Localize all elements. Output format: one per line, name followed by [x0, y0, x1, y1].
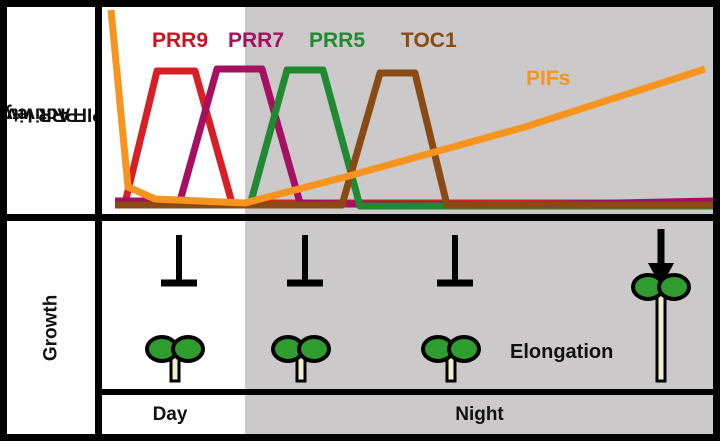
circadian-growth-figure: PRR levels and PIF Activity Growth PRR9P… — [0, 0, 720, 441]
axis-label-growth-text: Growth — [40, 294, 62, 361]
seedling-elongated — [633, 275, 689, 381]
phase-label-night: Night — [245, 395, 714, 434]
divider-horizontal-phasebar — [95, 389, 714, 395]
prr-pif-chart-panel: PRR9PRR7PRR5TOC1PIFs — [95, 7, 714, 214]
seedling-short — [273, 337, 329, 381]
cotyledon-right — [173, 337, 203, 361]
series-label-prr9: PRR9 — [152, 29, 208, 53]
series-label-pifs: PIFs — [526, 67, 570, 91]
cotyledon-right — [299, 337, 329, 361]
cotyledon-right — [659, 275, 689, 299]
series-label-prr7: PRR7 — [228, 29, 284, 53]
seedling-short — [423, 337, 479, 381]
curve-prr7 — [115, 69, 714, 205]
axis-label-prr-pif: PRR levels and PIF Activity — [7, 7, 95, 221]
axis-label-growth: Growth — [7, 221, 95, 434]
divider-horizontal-panels — [7, 214, 714, 221]
curve-prr9 — [115, 71, 714, 203]
series-label-prr5: PRR5 — [309, 29, 365, 53]
growth-glyphs — [95, 221, 714, 389]
curve-prr5 — [115, 70, 714, 206]
series-label-toc1: TOC1 — [401, 29, 457, 53]
day-night-bar: Day Night — [95, 395, 714, 434]
seedling-short — [147, 337, 203, 381]
hypocotyl — [657, 291, 665, 381]
elongation-label: Elongation — [510, 341, 613, 364]
growth-diagram-panel: Elongation — [95, 221, 714, 389]
cotyledon-right — [449, 337, 479, 361]
phase-label-day: Day — [95, 395, 245, 434]
